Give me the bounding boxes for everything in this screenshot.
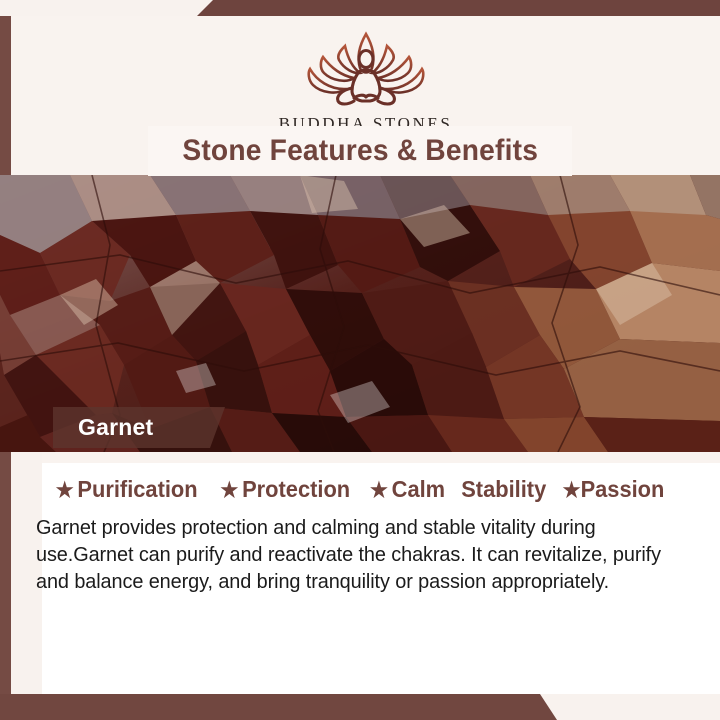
benefit-item-stability: ★ Stability [461,476,546,503]
benefit-label: Passion [581,476,665,503]
benefit-item-purification: ★ Purification [56,476,198,503]
stone-description: Garnet provides protection and calming a… [36,514,678,595]
top-decorative-bar [0,0,720,16]
benefit-item-passion: ★ Passion [563,476,665,503]
star-icon: ★ [370,480,388,501]
panel-top-edge [42,452,720,463]
brand-logo: BUDDHA STONES [11,28,720,134]
stone-name-badge: Garnet [53,407,225,448]
benefit-label: Calm [392,476,445,503]
star-icon: ★ [221,480,239,501]
benefits-list: ★ Purification ★ Protection ★ Calm ★ Sta… [52,476,712,503]
star-icon: ★ [563,480,581,501]
bottom-decorative-bar [0,694,720,720]
infographic-card: BUDDHA STONES [0,0,720,720]
page-title: Stone Features & Benefits [182,134,538,168]
benefit-label: Purification [77,476,197,503]
stone-name: Garnet [78,414,153,441]
content-panel: ★ Purification ★ Protection ★ Calm ★ Sta… [42,452,720,694]
title-banner: Stone Features & Benefits [148,126,572,176]
benefit-label: Protection [242,476,350,503]
benefit-item-calm: ★ Calm [370,476,445,503]
star-icon: ★ [56,480,74,501]
benefit-item-protection: ★ Protection [221,476,351,503]
benefit-label: Stability [461,476,546,503]
lotus-meditation-icon [290,28,442,112]
